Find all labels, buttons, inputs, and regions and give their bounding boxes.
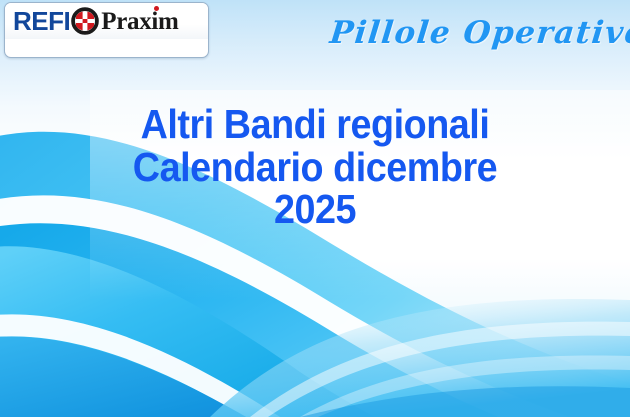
- pillole-operative-script-heading: Pillole Operative: [328, 16, 612, 50]
- logo-praxim-wrap: Praxim: [101, 9, 178, 34]
- logo-tagline-text: REDAZIONE FISCALE: [42, 44, 170, 53]
- refi-praxim-logo[interactable]: REFI Praxim REDAZIONE FISCALE: [4, 2, 209, 58]
- title-line-1: Altri Bandi regionali: [25, 103, 605, 146]
- logo-wordmark-row: REFI Praxim: [5, 3, 208, 39]
- title-line-3: 2025: [25, 188, 605, 231]
- refi-circle-mark-icon: [71, 7, 99, 35]
- logo-tagline-band: REDAZIONE FISCALE: [5, 39, 208, 57]
- page-title: Altri Bandi regionali Calendario dicembr…: [0, 103, 630, 231]
- logo-praxim-text: Praxim: [101, 9, 178, 34]
- pillole-operative-banner: REFI Praxim REDAZIONE FISCALE: [0, 0, 630, 417]
- red-dot-icon: [154, 6, 159, 11]
- title-line-2: Calendario dicembre: [25, 146, 605, 189]
- logo-refi-text: REFI: [13, 8, 70, 34]
